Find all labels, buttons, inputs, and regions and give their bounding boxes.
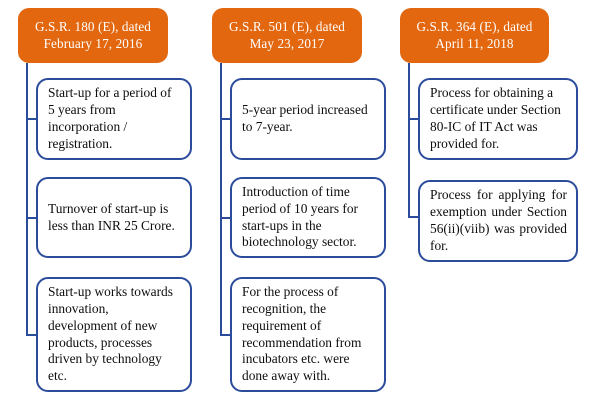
item-text: 5-year period increased to 7-year.	[242, 102, 375, 136]
column-header-text: G.S.R. 364 (E), dated April 11, 2018	[406, 19, 543, 51]
item-box: For the process of recognition, the requ…	[230, 277, 386, 392]
item-text: Process for applying for exemption under…	[430, 187, 567, 255]
item-text: Introduction of time period of 10 years …	[242, 184, 375, 252]
item-box: 5-year period increased to 7-year.	[230, 78, 386, 160]
item-text: Start-up for a period of 5 years from in…	[48, 85, 181, 153]
column-header-gsr-180: G.S.R. 180 (E), dated February 17, 2016	[18, 8, 168, 63]
item-box: Introduction of time period of 10 years …	[230, 177, 386, 258]
column-header-text: G.S.R. 180 (E), dated February 17, 2016	[24, 19, 162, 51]
item-box: Process for obtaining a certificate unde…	[418, 78, 578, 160]
item-box: Start-up works towards innovation, devel…	[36, 277, 192, 392]
column-header-text: G.S.R. 501 (E), dated May 23, 2017	[218, 19, 356, 51]
column-header-gsr-501: G.S.R. 501 (E), dated May 23, 2017	[212, 8, 362, 63]
item-text: For the process of recognition, the requ…	[242, 284, 375, 385]
connector-trunk-column-2	[220, 63, 222, 335]
column-gsr-180: G.S.R. 180 (E), dated February 17, 2016 …	[0, 0, 200, 400]
column-header-gsr-364: G.S.R. 364 (E), dated April 11, 2018	[400, 8, 549, 63]
connector-trunk-column-1	[26, 63, 28, 335]
connector-trunk-column-3	[408, 63, 410, 218]
item-text: Turnover of start-up is less than INR 25…	[48, 201, 181, 235]
item-text: Process for obtaining a certificate unde…	[430, 85, 567, 153]
column-gsr-364: G.S.R. 364 (E), dated April 11, 2018 Pro…	[382, 0, 600, 400]
item-box: Process for applying for exemption under…	[418, 180, 578, 262]
column-gsr-501: G.S.R. 501 (E), dated May 23, 2017 5-yea…	[194, 0, 394, 400]
item-text: Start-up works towards innovation, devel…	[48, 284, 181, 385]
item-box: Start-up for a period of 5 years from in…	[36, 78, 192, 160]
item-box: Turnover of start-up is less than INR 25…	[36, 177, 192, 258]
gsr-amendments-flowchart: G.S.R. 180 (E), dated February 17, 2016 …	[0, 0, 600, 400]
